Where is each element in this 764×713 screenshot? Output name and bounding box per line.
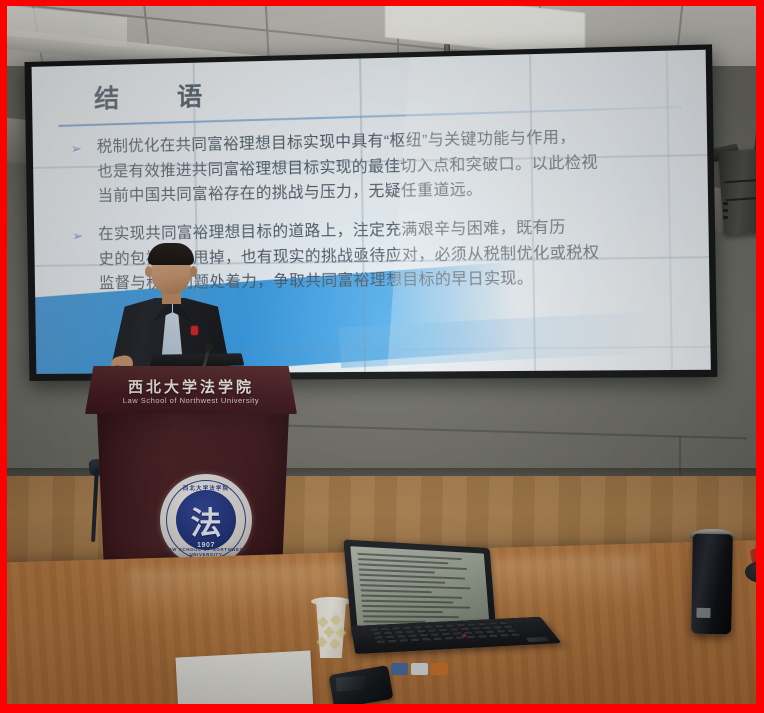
- paper-cup-pattern: [317, 616, 345, 646]
- bullet-arrow-icon: ➢: [71, 138, 82, 159]
- laptop-stickers: [391, 663, 469, 676]
- presenter-hair: [148, 243, 194, 265]
- photo-frame: 结 语 ➢ 税制优化在共同富裕理想目标实现中具有“枢纽”与关键功能与作用， 也是…: [0, 0, 764, 713]
- podium-laptop: [150, 353, 244, 367]
- printed-paper: [175, 651, 313, 704]
- presenter-lapel-pin: [191, 326, 198, 335]
- podium-name-cn: 西北大学法学院: [85, 376, 297, 397]
- thermos-bottle: [691, 534, 733, 635]
- slide-title: 结 语: [94, 76, 219, 115]
- laptop-document-lines: [357, 553, 482, 621]
- speaker-ports: [723, 202, 729, 224]
- trackpoint-icon[interactable]: [462, 634, 467, 637]
- presenter-ear-right: [190, 266, 197, 277]
- laptop-brand-logo: [526, 637, 549, 642]
- thermos-label: [696, 608, 710, 618]
- podium-name-en: Law School of Northwest University: [85, 396, 297, 405]
- sticker-blue: [391, 663, 408, 675]
- emblem-year: 1907: [160, 542, 252, 549]
- sticker-orange: [431, 663, 448, 675]
- presenter-ear-left: [145, 266, 152, 277]
- laptop-screen[interactable]: [350, 546, 490, 629]
- bullet-arrow-icon: ➢: [72, 225, 83, 246]
- university-emblem: 西北大学法学院 法 1907 LAW SCHOOL OF NORTHWEST U…: [160, 474, 252, 566]
- sticker-white: [411, 663, 428, 675]
- laptop: [343, 544, 549, 672]
- wall-panel-joint: [287, 425, 747, 440]
- lecture-hall-scene: 结 语 ➢ 税制优化在共同富裕理想目标实现中具有“枢纽”与关键功能与作用， 也是…: [7, 6, 756, 704]
- emblem-character: 法: [176, 490, 236, 550]
- slide-bullet-1: ➢ 税制优化在共同富裕理想目标实现中具有“枢纽”与关键功能与作用， 也是有效推进…: [69, 123, 689, 210]
- laptop-keyboard[interactable]: [370, 621, 529, 646]
